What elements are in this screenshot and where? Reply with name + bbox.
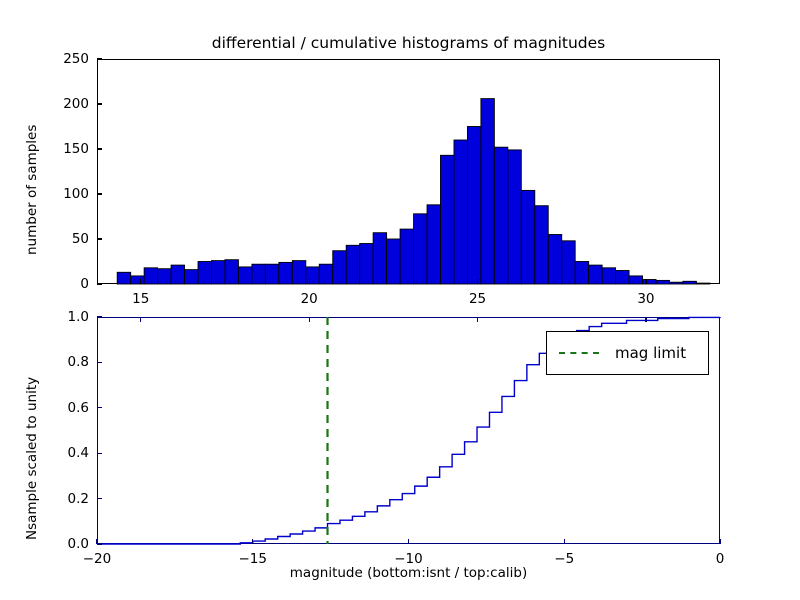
axis-tick-mark: [97, 193, 102, 194]
bottom-panel-xtick-label: −15: [239, 551, 268, 567]
axis-tick-mark: [408, 539, 409, 544]
cumulative-histogram-plot: [0, 0, 800, 600]
axis-tick-mark: [97, 283, 102, 284]
top-panel-xtick-label: 30: [637, 291, 654, 307]
axis-tick-mark: [477, 317, 478, 322]
top-panel-ytick-label: 250: [63, 51, 89, 67]
bottom-panel-xtick-label: −10: [394, 551, 423, 567]
axis-tick-mark: [97, 498, 102, 499]
axis-tick-mark: [97, 148, 102, 149]
axis-tick-mark: [645, 279, 646, 284]
axis-tick-mark: [97, 407, 102, 408]
axis-tick-mark: [96, 539, 97, 544]
top-panel-xtick-label: 20: [301, 291, 318, 307]
top-panel-ytick-label: 100: [63, 186, 89, 202]
top-panel-xtick-label: 15: [132, 291, 149, 307]
axis-tick-mark: [97, 58, 102, 59]
bottom-panel-ytick-label: 1.0: [68, 309, 89, 325]
top-panel-ytick-label: 0: [80, 276, 89, 292]
bottom-panel-ytick-label: 0.8: [68, 354, 89, 370]
axis-tick-mark: [97, 453, 102, 454]
axis-tick-mark: [309, 279, 310, 284]
bottom-panel-ytick-label: 0.4: [68, 445, 89, 461]
axis-tick-mark: [252, 539, 253, 544]
top-panel-ytick-label: 50: [72, 231, 89, 247]
axis-tick-mark: [477, 279, 478, 284]
bottom-panel-xtick-label: −5: [554, 551, 574, 567]
bottom-panel-ytick-label: 0.2: [68, 491, 89, 507]
axis-tick-mark: [140, 317, 141, 322]
axis-tick-mark: [564, 539, 565, 544]
axis-tick-mark: [309, 317, 310, 322]
bottom-panel-ytick-label: 0.6: [68, 400, 89, 416]
axis-tick-mark: [97, 316, 102, 317]
bottom-panel-xtick-label: 0: [716, 551, 725, 567]
top-panel-ytick-label: 200: [63, 96, 89, 112]
legend-label-mag-limit: mag limit: [615, 344, 686, 362]
axis-tick-mark: [97, 238, 102, 239]
figure-xlabel: magnitude (bottom:isnt / top:calib): [97, 565, 720, 581]
axis-tick-mark: [645, 317, 646, 322]
axis-tick-mark: [719, 539, 720, 544]
top-panel-xtick-label: 25: [469, 291, 486, 307]
axis-tick-mark: [97, 103, 102, 104]
axis-tick-mark: [140, 279, 141, 284]
axis-tick-mark: [97, 362, 102, 363]
mag-limit-line-swatch-icon: [559, 352, 599, 354]
axis-tick-mark: [97, 543, 102, 544]
bottom-panel-xtick-label: −20: [83, 551, 112, 567]
top-panel-ytick-label: 150: [63, 141, 89, 157]
figure-canvas: differential / cumulative histograms of …: [0, 0, 800, 600]
legend[interactable]: mag limit: [546, 331, 709, 375]
bottom-panel-ytick-label: 0.0: [68, 536, 89, 552]
